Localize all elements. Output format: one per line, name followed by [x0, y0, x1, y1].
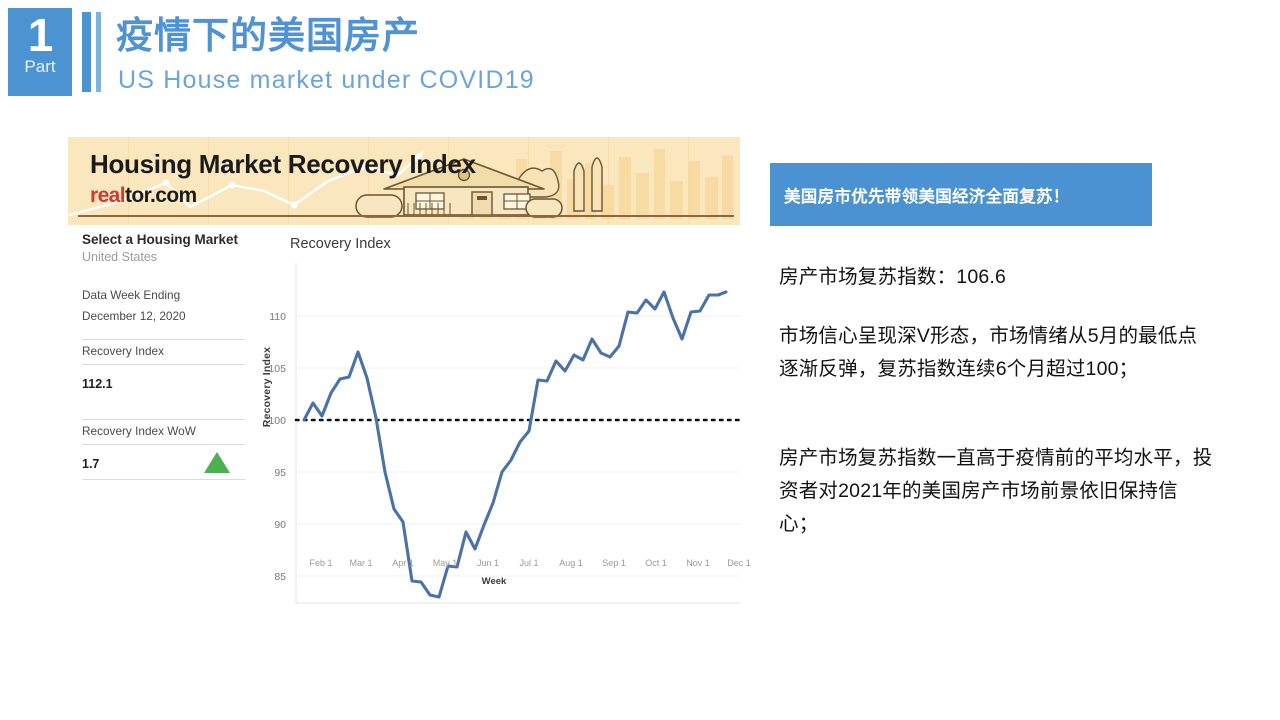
slide: 1 Part 疫情下的美国房产 US House market under CO…: [0, 0, 1280, 720]
realtor-banner: Housing Market Recovery Index realtor.co…: [68, 137, 740, 225]
divider: [82, 339, 245, 340]
stat-label: Recovery Index WoW: [82, 421, 245, 442]
divider: [82, 444, 245, 445]
paragraph-index-value: 房产市场复苏指数：106.6: [779, 261, 1215, 294]
banner-ground-line: [78, 215, 734, 217]
divider: [82, 479, 245, 480]
page-title-en: US House market under COVID19: [118, 65, 535, 95]
up-triangle-icon: [204, 452, 230, 473]
realtor-panel: Select a Housing Market United States Da…: [68, 225, 740, 642]
part-label: Part: [24, 58, 55, 76]
select-housing-market-label: Select a Housing Market: [82, 232, 238, 247]
x-tick: Jun 1: [477, 558, 499, 568]
x-tick: Apr 1: [392, 558, 414, 568]
x-tick: Oct 1: [645, 558, 667, 568]
stat-label: Recovery Index: [82, 341, 245, 362]
stat-recovery-index: Recovery Index: [82, 341, 245, 362]
part-badge: 1 Part: [8, 8, 72, 96]
x-tick: Nov 1: [686, 558, 710, 568]
part-number: 1: [28, 10, 53, 60]
x-tick: May 1: [433, 558, 458, 568]
realtor-screenshot: Housing Market Recovery Index realtor.co…: [68, 137, 740, 642]
x-tick: Sep 1: [602, 558, 626, 568]
x-tick: Mar 1: [349, 558, 372, 568]
callout-text: 美国房市优先带领美国经济全面复苏！: [784, 183, 1070, 207]
banner-title: Housing Market Recovery Index: [90, 149, 476, 180]
realtor-logo-red: real: [90, 184, 125, 207]
stat-value: 112.1: [82, 373, 245, 395]
stat-label: Data Week Ending: [82, 285, 245, 306]
paragraph-outlook: 房产市场复苏指数一直高于疫情前的平均水平，投资者对2021年的美国房产市场前景依…: [779, 442, 1215, 541]
paragraph-market-confidence: 市场信心呈现深V形态，市场情绪从5月的最低点逐渐反弹，复苏指数连续6个月超过10…: [779, 320, 1215, 386]
stat-recovery-index-wow: Recovery Index WoW: [82, 421, 245, 442]
page-title-cn: 疫情下的美国房产: [116, 14, 420, 58]
callout-banner: 美国房市优先带领美国经济全面复苏！: [770, 163, 1152, 226]
x-tick: Aug 1: [559, 558, 583, 568]
x-tick: Jul 1: [519, 558, 538, 568]
header-accent-bar-thick: [82, 12, 91, 92]
recovery-index-chart: Recovery Index Recovery Index 85 90 95 1…: [248, 231, 740, 642]
chart-x-axis-label: Week: [248, 576, 740, 587]
stat-recovery-index-value: 112.1: [82, 373, 245, 395]
stat-data-week-ending: Data Week Ending December 12, 2020: [82, 285, 245, 327]
divider: [82, 419, 245, 420]
header-accent-bar-thin: [96, 12, 101, 92]
realtor-logo: realtor.com: [90, 184, 197, 208]
stat-value: December 12, 2020: [82, 306, 245, 327]
realtor-logo-dark: tor.com: [125, 184, 197, 207]
divider: [82, 364, 245, 365]
selected-market-value[interactable]: United States: [82, 250, 157, 264]
x-tick: Dec 1: [727, 558, 751, 568]
x-tick: Feb 1: [309, 558, 332, 568]
